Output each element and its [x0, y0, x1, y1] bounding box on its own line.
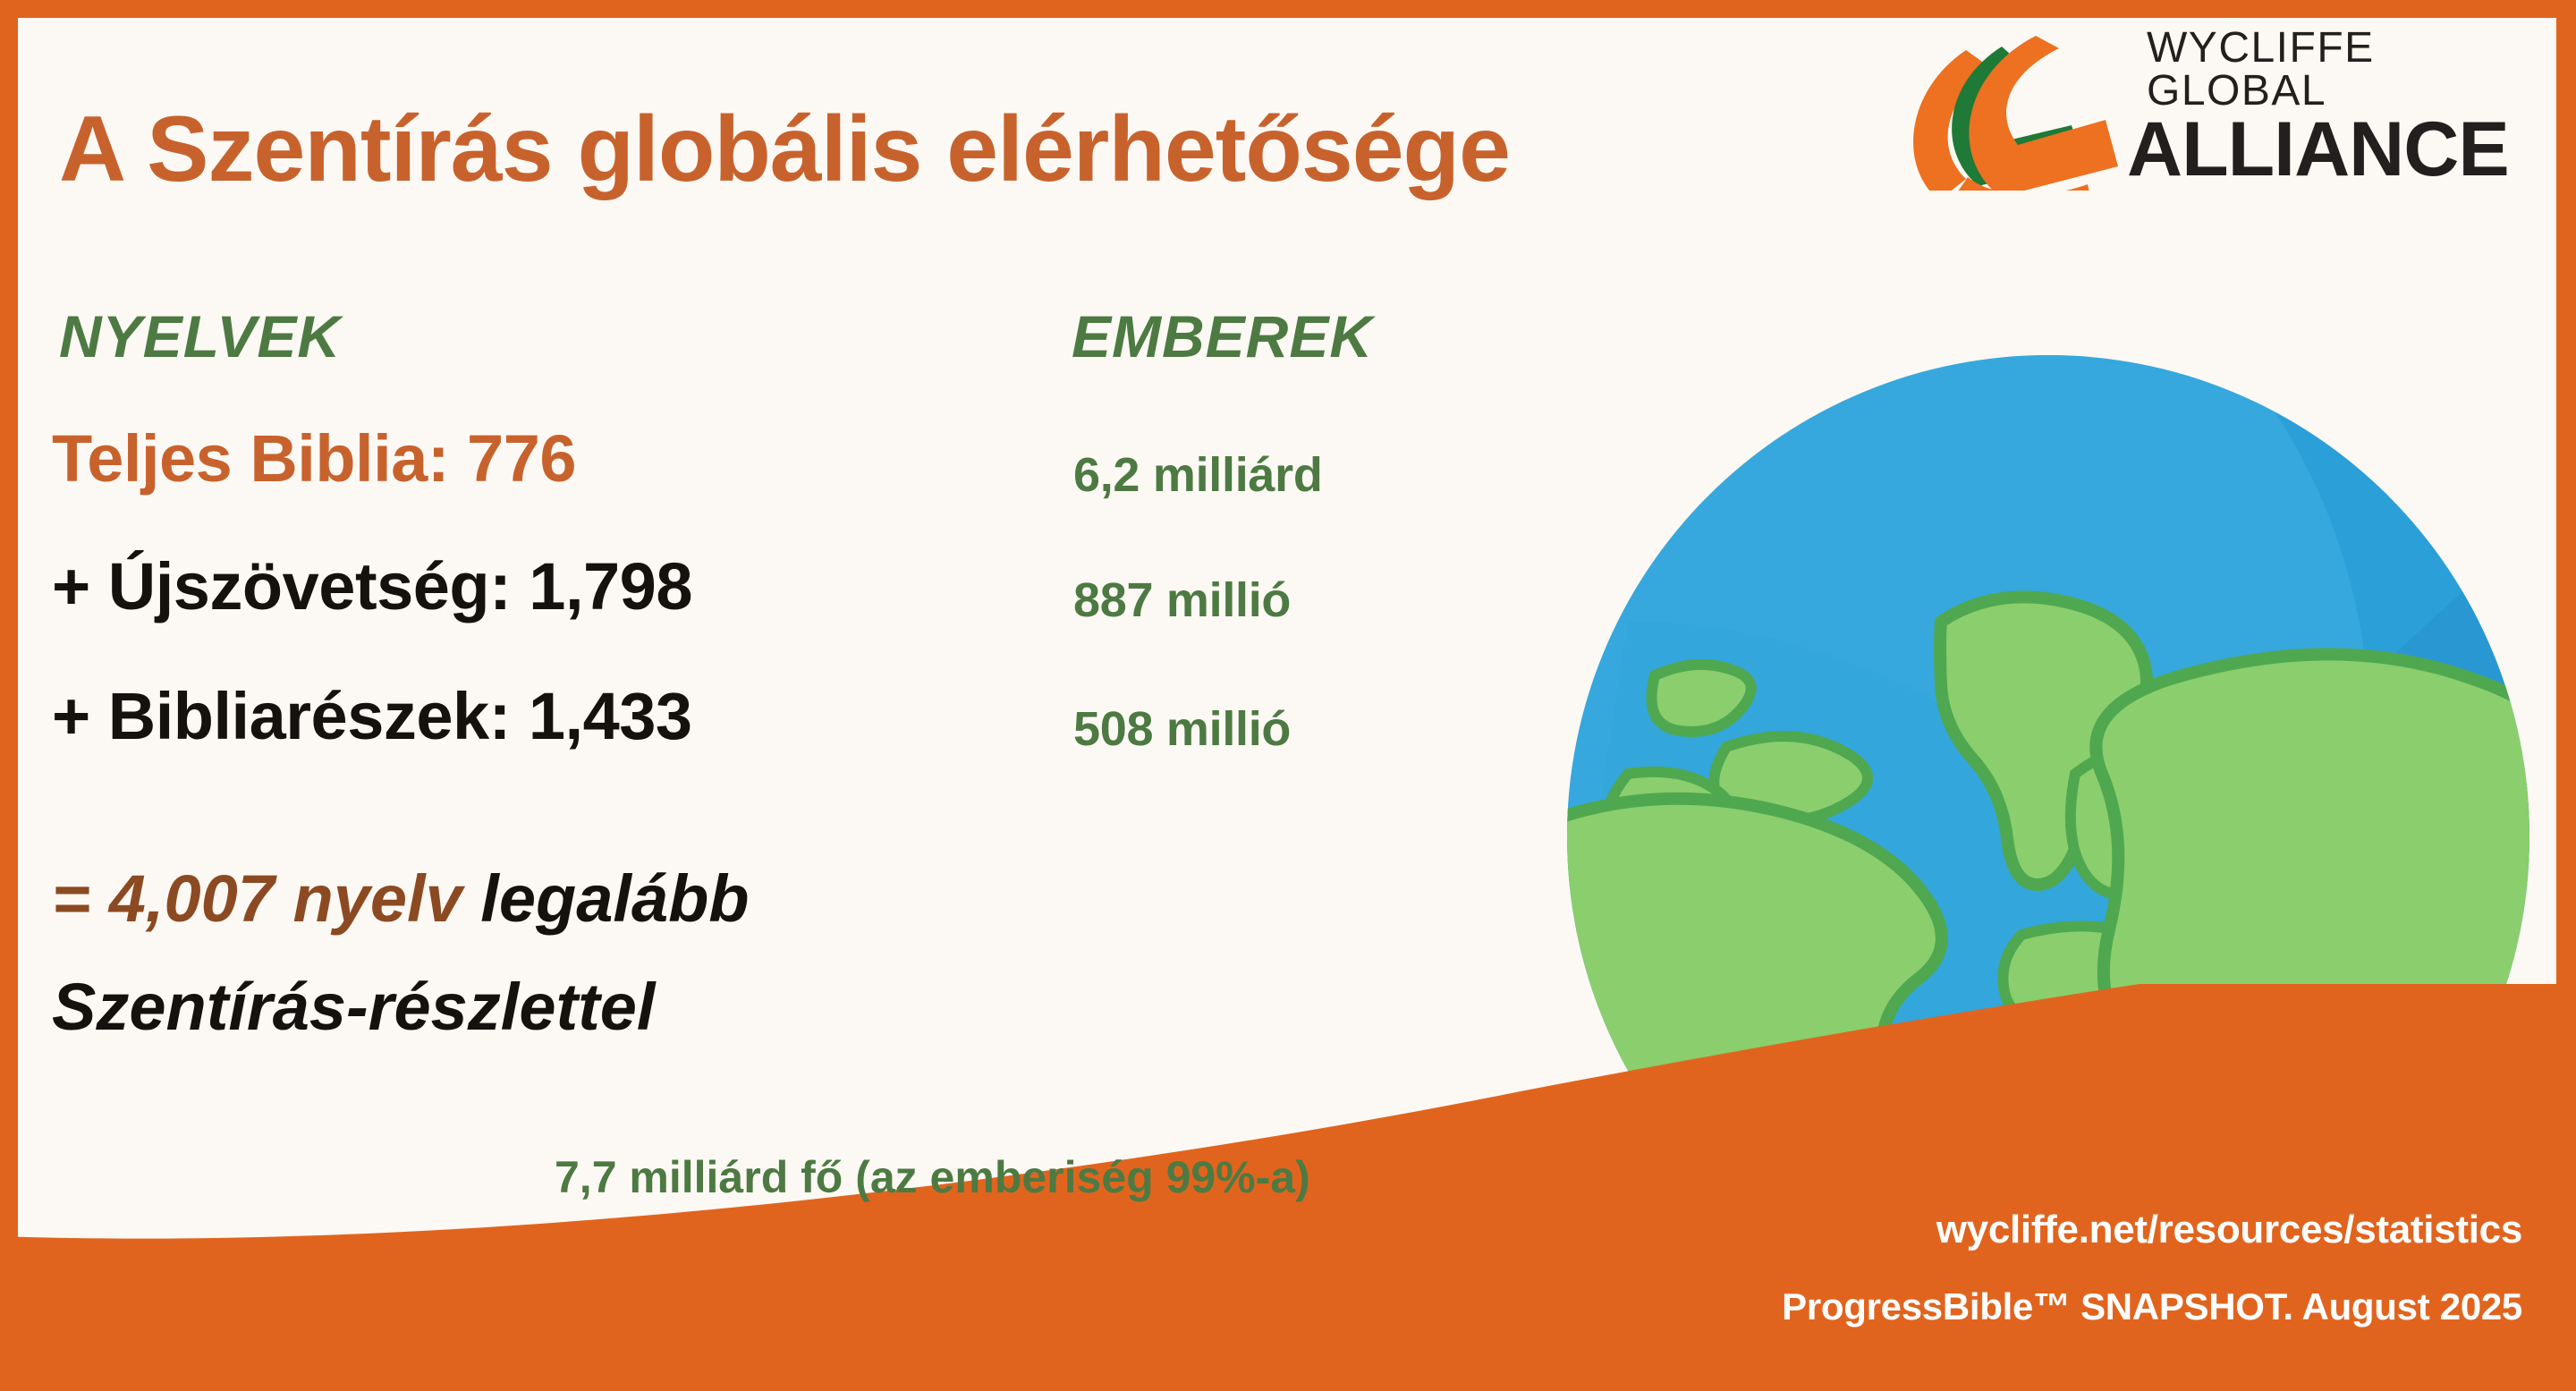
summary-rest: legalább	[462, 861, 750, 936]
stat-languages-new-testament: + Újszövetség: 1,798	[52, 548, 692, 624]
frame-border-top	[0, 0, 2576, 18]
footer-source-url[interactable]: wycliffe.net/resources/statistics	[1936, 1208, 2522, 1252]
stat-people-full-bible: 6,2 milliárd	[1073, 447, 1323, 503]
stat-people-new-testament: 887 millió	[1073, 573, 1291, 628]
stat-people-bible-portions: 508 millió	[1073, 701, 1291, 757]
stat-languages-bible-portions: + Bibliarészek: 1,433	[52, 678, 692, 754]
logo-line-wycliffe-global: WYCLIFFE GLOBAL	[2127, 27, 2558, 113]
footer-snapshot-note: ProgressBible™ SNAPSHOT. August 2025	[1782, 1285, 2522, 1328]
logo-wordmark: WYCLIFFE GLOBAL ALLIANCE	[2127, 27, 2558, 191]
frame-border-left	[0, 0, 18, 1391]
summary-line-2: Szentírás-részlettel	[52, 969, 656, 1045]
stat-languages-full-bible: Teljes Biblia: 776	[52, 420, 576, 496]
column-heading-languages: NYELVEK	[59, 302, 341, 370]
summary-highlight: = 4,007 nyelv	[52, 861, 462, 936]
frame-border-right	[2556, 0, 2576, 1391]
total-population-line: 7,7 milliárd fő (az emberiség 99%-a)	[555, 1151, 1310, 1203]
wycliffe-global-alliance-logo: WYCLIFFE GLOBAL ALLIANCE	[1896, 25, 2558, 191]
column-heading-people: EMBEREK	[1072, 302, 1373, 370]
frame-border-bottom	[0, 1375, 2576, 1391]
summary-line-1: = 4,007 nyelv legalább	[52, 861, 750, 937]
infographic-poster: A Szentírás globális elérhetősége WYCLIF…	[0, 0, 2576, 1391]
logo-line-alliance: ALLIANCE	[2127, 113, 2509, 187]
wycliffe-crescent-icon	[1896, 25, 2138, 191]
page-title: A Szentírás globális elérhetősége	[59, 97, 1510, 203]
